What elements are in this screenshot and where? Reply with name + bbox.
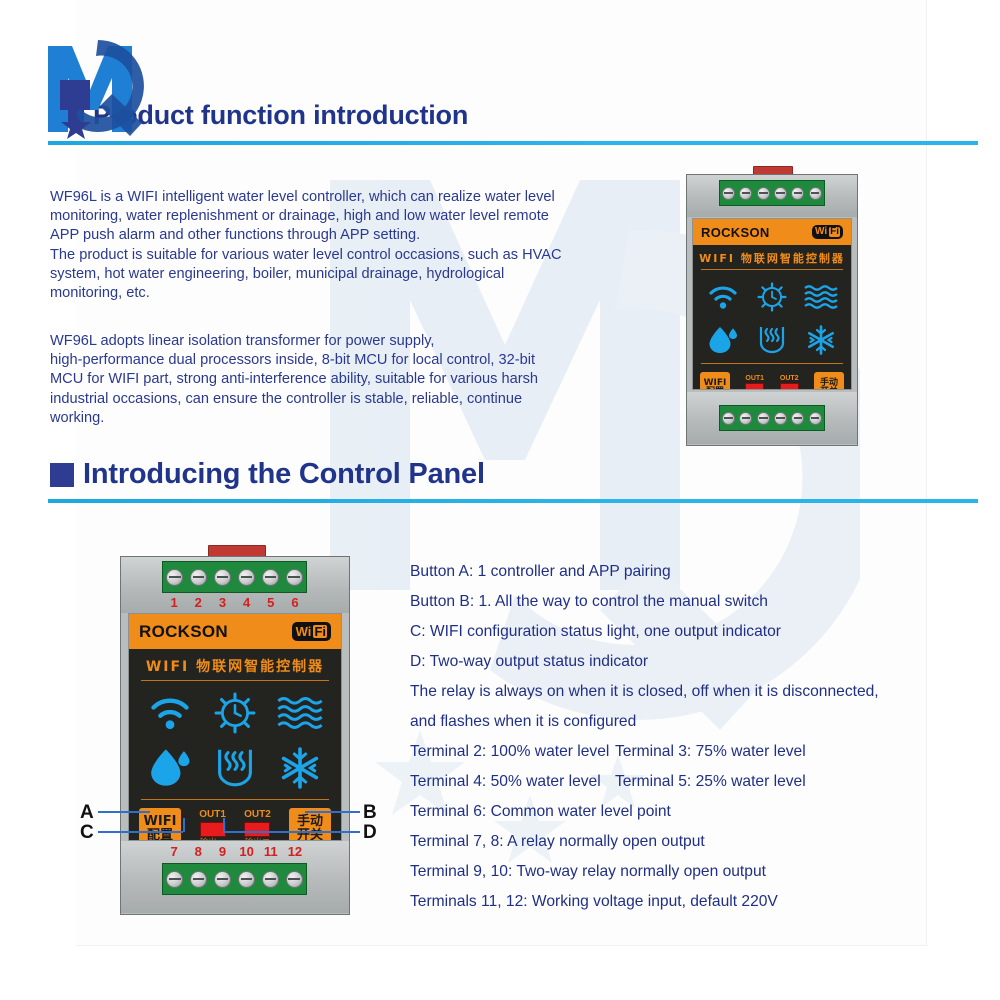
timer-clock-icon (214, 692, 256, 734)
screw-icon (286, 871, 303, 888)
brand-name: ROCKSON (701, 225, 770, 240)
out2-label: OUT2 (780, 375, 799, 382)
terminal-number: 6 (283, 595, 307, 610)
terminal-number: 8 (186, 844, 210, 859)
water-waves-icon (804, 284, 838, 310)
water-drop-icon (708, 326, 738, 354)
terminal-number: 7 (162, 844, 186, 859)
top-terminal-block (162, 561, 307, 593)
water-waves-icon (277, 695, 323, 731)
out2-label: OUT2 (244, 810, 271, 820)
panel-chinese-title: WIFI 物联网智能控制器 (693, 250, 851, 266)
terminal-number: 2 (186, 595, 210, 610)
paragraph-2: The product is suitable for various wate… (50, 246, 650, 304)
callout-leader-c-vertical (183, 818, 185, 832)
screw-icon (722, 187, 735, 200)
bottom-terminal-block (719, 405, 825, 431)
desc-terminal-11-12: Terminals 11, 12: Working voltage input,… (410, 887, 970, 917)
screw-icon (809, 187, 822, 200)
callout-leader-b (305, 811, 360, 813)
screw-icon (166, 871, 183, 888)
brand-bar: ROCKSON WiFi (693, 219, 851, 245)
screw-icon (774, 187, 787, 200)
bottom-terminal-block (162, 863, 307, 895)
desc-line-button-b: Button B: 1. All the way to control the … (410, 587, 970, 617)
callout-label-c: C (80, 822, 94, 844)
screw-icon (214, 871, 231, 888)
panel-separator-bottom (701, 363, 843, 364)
screw-icon (286, 569, 303, 586)
screw-icon (262, 569, 279, 586)
terminal-number: 12 (283, 844, 307, 859)
desc-line-c: C: WIFI configuration status light, one … (410, 617, 970, 647)
manual-switch-button[interactable]: 手动 开关 (814, 372, 844, 390)
heading-rule-1 (48, 141, 978, 145)
desc-terminal-row-1: Terminal 2: 100% water level Terminal 3:… (410, 737, 970, 767)
terminal-number: 10 (235, 844, 259, 859)
panel-chinese-title: WIFI 物联网智能控制器 (129, 656, 341, 676)
brand-bar: ROCKSON WiFi (129, 614, 341, 649)
desc-terminal-7-8: Terminal 7, 8: A relay normally open out… (410, 827, 970, 857)
desc-line-d: D: Two-way output status indicator (410, 647, 970, 677)
desc-line-relay-1: The relay is always on when it is closed… (410, 677, 970, 707)
desc-terminal-2: Terminal 2: 100% water level (410, 737, 615, 767)
callout-label-a: A (80, 802, 94, 824)
callout-leader-a (98, 811, 150, 813)
screw-icon (238, 569, 255, 586)
section-heading-control-panel: Introducing the Control Panel (50, 458, 485, 491)
out2-led-group: OUT2 输出二 (780, 375, 800, 390)
desc-line-relay-2: and flashes when it is configured (410, 707, 970, 737)
panel-separator-top (141, 680, 329, 681)
panel-black-face: WIFI 物联网智能控制器 (693, 245, 851, 389)
timer-clock-icon (757, 282, 787, 312)
heating-icon (757, 325, 787, 355)
out1-led (745, 383, 764, 390)
callout-label-d: D (363, 822, 377, 844)
out2-chinese-label: 输出二 (245, 839, 271, 841)
water-drop-icon (149, 748, 191, 787)
terminal-number: 11 (259, 844, 283, 859)
top-terminal-block (719, 180, 825, 206)
heating-icon (214, 747, 256, 789)
wifi-config-button[interactable]: WIFI 配置 (700, 372, 730, 390)
bottom-terminal-numbers: 7 8 9 10 11 12 (162, 844, 307, 859)
wifi-signal-icon (148, 695, 192, 731)
desc-terminal-4: Terminal 4: 50% water level (410, 767, 615, 797)
screw-icon (190, 871, 207, 888)
screw-icon (809, 412, 822, 425)
top-terminal-numbers: 1 2 3 4 5 6 (162, 595, 307, 610)
screw-icon (214, 569, 231, 586)
wifi-badge-part2: Fi (829, 227, 840, 237)
screw-icon (791, 187, 804, 200)
device-illustration-small: ROCKSON WiFi WIFI 物联网智能控制器 (686, 166, 858, 446)
out2-led-group: OUT2 输出二 (244, 810, 271, 841)
screw-icon (262, 871, 279, 888)
out1-label: OUT1 (745, 375, 764, 382)
wifi-badge-part1: Wi (296, 625, 312, 638)
screw-icon (757, 412, 770, 425)
description-list: Button A: 1 controller and APP pairing B… (410, 557, 970, 917)
screw-icon (774, 412, 787, 425)
out1-chinese-label: 输出一 (200, 839, 226, 841)
wifi-config-line1: WIFI (144, 815, 177, 829)
desc-terminal-row-2: Terminal 4: 50% water level Terminal 5: … (410, 767, 970, 797)
callout-label-b: B (363, 802, 377, 824)
screw-icon (722, 412, 735, 425)
wifi-badge-part2: Fi (313, 625, 327, 638)
brand-name: ROCKSON (139, 622, 228, 642)
terminal-number: 4 (235, 595, 259, 610)
device-illustration-large: 1 2 3 4 5 6 ROCKSON WiFi WIFI 物联网智能控制器 (120, 545, 350, 915)
screw-icon (791, 412, 804, 425)
terminal-number: 5 (259, 595, 283, 610)
desc-line-button-a: Button A: 1 controller and APP pairing (410, 557, 970, 587)
paragraph-3: WF96L adopts linear isolation transforme… (50, 332, 660, 428)
screw-icon (190, 569, 207, 586)
wifi-signal-icon (707, 284, 739, 310)
out1-led-group: OUT1 输出一 (199, 810, 226, 841)
panel-separator-top (701, 269, 843, 270)
paragraph-1: WF96L is a WIFI intelligent water level … (50, 188, 650, 246)
heading-text: Introducing the Control Panel (83, 458, 485, 491)
terminal-number: 9 (210, 844, 234, 859)
snowflake-icon (806, 325, 836, 355)
mq-logo (38, 28, 158, 148)
desc-terminal-5: Terminal 5: 25% water level (615, 767, 806, 797)
snowflake-icon (279, 747, 321, 789)
terminal-number: 1 (162, 595, 186, 610)
control-panel-face: ROCKSON WiFi WIFI 物联网智能控制器 (128, 613, 342, 841)
callout-leader-c (98, 831, 183, 833)
out1-label: OUT1 (199, 810, 226, 820)
callout-leader-d (223, 831, 360, 833)
manual-switch-line1: 手动 (297, 815, 323, 829)
control-panel-face: ROCKSON WiFi WIFI 物联网智能控制器 (692, 218, 852, 390)
desc-terminal-3: Terminal 3: 75% water level (615, 737, 806, 767)
desc-terminal-9-10: Terminal 9, 10: Two-way relay normally o… (410, 857, 970, 887)
callout-leader-d-vertical (223, 818, 225, 832)
heading-rule-2 (48, 499, 978, 503)
wifi-config-line2: 配置 (706, 388, 724, 390)
desc-terminal-6: Terminal 6: Common water level point (410, 797, 970, 827)
panel-separator-bottom (141, 799, 329, 800)
screw-icon (166, 569, 183, 586)
out2-led (244, 822, 270, 837)
manual-switch-line2: 开关 (820, 388, 838, 390)
out1-led (200, 822, 226, 837)
out1-led-group: OUT1 输出一 (745, 375, 765, 390)
screw-icon (757, 187, 770, 200)
wifi-badge: WiFi (812, 225, 843, 239)
wifi-badge: WiFi (292, 622, 331, 641)
screw-icon (238, 871, 255, 888)
terminal-number: 3 (210, 595, 234, 610)
out2-led (780, 383, 799, 390)
screw-icon (739, 187, 752, 200)
screw-icon (739, 412, 752, 425)
heading-bullet-icon (50, 463, 74, 487)
wifi-badge-part1: Wi (815, 227, 827, 237)
